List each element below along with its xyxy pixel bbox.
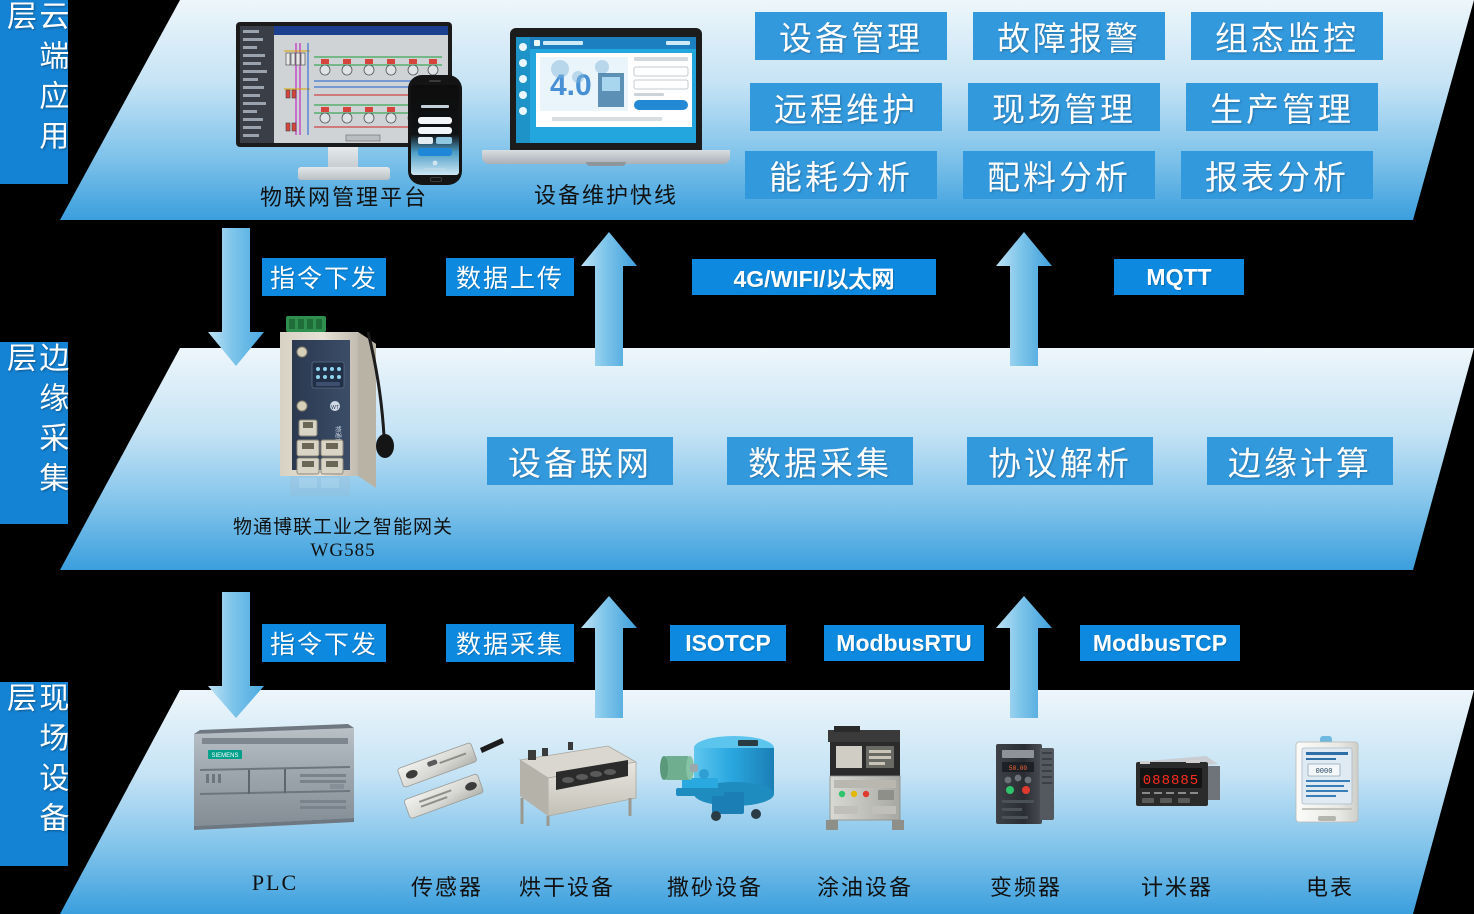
field-device-plc: SIEMENS xyxy=(188,722,360,832)
architecture-diagram: 云端应用层 边缘采集层 现场设备层 xyxy=(0,0,1474,914)
caption-meter-counter: 计米器 xyxy=(1097,870,1257,902)
arrow-mqtt-up-top xyxy=(993,232,1055,366)
phone-earpiece xyxy=(429,80,441,82)
layer-tab-edge[interactable]: 边缘采集层 xyxy=(0,342,68,524)
tag-command-dispatch-top[interactable]: 指令下发 xyxy=(262,258,386,296)
tag-modbusrtu[interactable]: ModbusRTU xyxy=(824,625,984,661)
edge-tile-label: 数据采集 xyxy=(748,437,892,485)
tag-label: ModbusTCP xyxy=(1093,630,1227,657)
arrow-modbustcp-up xyxy=(993,596,1055,718)
arrow-command-down-bottom xyxy=(205,592,267,720)
edge-tile-protocol-parsing[interactable]: 协议解析 xyxy=(967,437,1153,485)
laptop-front-notch xyxy=(586,162,626,166)
tag-label: 数据采集 xyxy=(456,625,564,661)
edge-gateway-device: WT 物通博联 xyxy=(272,310,412,510)
field-device-inverter: 50.00 xyxy=(992,740,1060,826)
laptop-lid: 4.0 xyxy=(510,28,702,150)
caption-maintenance-express: 设备维护快线 xyxy=(456,178,756,210)
tag-mqtt[interactable]: MQTT xyxy=(1114,259,1244,295)
mobile-app-phone xyxy=(408,75,462,185)
caption-gateway-line1: 物通博联工业之智能网关 xyxy=(178,512,508,539)
tag-label: 指令下发 xyxy=(270,259,378,295)
scada-titlebar xyxy=(274,26,448,35)
field-device-drying-equipment xyxy=(512,736,640,828)
app-tile-fault-alarm[interactable]: 故障报警 xyxy=(973,12,1165,60)
caption-sand-spreading: 撒砂设备 xyxy=(635,870,795,902)
tag-command-dispatch-bottom[interactable]: 指令下发 xyxy=(262,624,386,662)
arrow-data-upload-top xyxy=(578,232,640,366)
caption-plc: PLC xyxy=(195,870,355,896)
monitor-stand xyxy=(298,167,390,180)
monitor-neck xyxy=(328,147,358,169)
field-device-sand-spreading xyxy=(660,726,780,830)
tag-label: ModbusRTU xyxy=(836,630,971,657)
tag-isotcp[interactable]: ISOTCP xyxy=(670,625,786,661)
app-tile-site-management[interactable]: 现场管理 xyxy=(968,83,1160,131)
maintenance-express-laptop: 4.0 xyxy=(482,28,730,168)
tag-label: 指令下发 xyxy=(270,625,378,661)
laptop-display: 4.0 xyxy=(516,37,696,143)
caption-inverter: 变频器 xyxy=(946,870,1106,902)
app-tile-label: 组态监控 xyxy=(1215,12,1359,60)
edge-tile-label: 设备联网 xyxy=(508,437,652,485)
svg-text:WT: WT xyxy=(331,405,339,411)
app-tile-label: 报表分析 xyxy=(1205,151,1349,199)
field-device-oiling-equipment xyxy=(820,726,916,830)
field-device-meter-counter: 088885 xyxy=(1130,754,1224,814)
caption-iot-platform: 物联网管理平台 xyxy=(194,180,494,212)
app-tile-scada-monitoring[interactable]: 组态监控 xyxy=(1191,12,1383,60)
tag-data-upload-top[interactable]: 数据上传 xyxy=(446,258,574,296)
app-tile-label: 设备管理 xyxy=(779,12,923,60)
edge-tile-data-acquisition[interactable]: 数据采集 xyxy=(727,437,913,485)
tag-label: 数据上传 xyxy=(456,259,564,295)
tag-network-4g-wifi-eth[interactable]: 4G/WIFI/以太网 xyxy=(692,259,936,295)
edge-tile-edge-computing[interactable]: 边缘计算 xyxy=(1207,437,1393,485)
scada-sidebar xyxy=(240,26,274,143)
caption-drying: 烘干设备 xyxy=(487,870,647,902)
edge-tile-device-networking[interactable]: 设备联网 xyxy=(487,437,673,485)
tag-label: ISOTCP xyxy=(685,630,771,657)
caption-oiling: 涂油设备 xyxy=(785,870,945,902)
layer-tab-field[interactable]: 现场设备层 xyxy=(0,682,68,866)
tag-label: 4G/WIFI/以太网 xyxy=(734,260,895,294)
layer-tab-cloud[interactable]: 云端应用层 xyxy=(0,0,68,184)
field-device-electricity-meter: 0000 xyxy=(1292,736,1362,830)
app-tile-label: 故障报警 xyxy=(997,12,1141,60)
app-tile-label: 远程维护 xyxy=(774,83,918,131)
app-tile-production-management[interactable]: 生产管理 xyxy=(1186,83,1378,131)
svg-text:50.00: 50.00 xyxy=(1009,765,1027,772)
layer-tab-field-label: 现场设备层 xyxy=(2,682,67,866)
field-device-sensor xyxy=(388,732,506,828)
phone-screen xyxy=(411,85,459,175)
caption-gateway-line2: WG585 xyxy=(178,540,508,562)
layer-tab-edge-label: 边缘采集层 xyxy=(2,342,67,524)
app-tile-label: 现场管理 xyxy=(992,83,1136,131)
edge-tile-label: 协议解析 xyxy=(988,437,1132,485)
app-tile-remote-maintenance[interactable]: 远程维护 xyxy=(750,83,942,131)
tag-label: MQTT xyxy=(1146,264,1211,291)
phone-body xyxy=(408,75,462,185)
app-tile-label: 生产管理 xyxy=(1210,83,1354,131)
svg-text:0000: 0000 xyxy=(1316,768,1333,776)
caption-electricity-meter: 电表 xyxy=(1250,870,1410,902)
tag-data-collection[interactable]: 数据采集 xyxy=(446,624,574,662)
edge-tile-label: 边缘计算 xyxy=(1228,437,1372,485)
arrow-data-collection-up xyxy=(578,596,640,718)
app-tile-label: 能耗分析 xyxy=(769,151,913,199)
app-tile-material-analysis[interactable]: 配料分析 xyxy=(963,151,1155,199)
arrow-command-down-top xyxy=(205,228,267,368)
app-tile-energy-analysis[interactable]: 能耗分析 xyxy=(745,151,937,199)
layer-tab-cloud-label: 云端应用层 xyxy=(2,0,67,184)
tag-modbustcp[interactable]: ModbusTCP xyxy=(1080,625,1240,661)
app-tile-label: 配料分析 xyxy=(987,151,1131,199)
app-tile-device-management[interactable]: 设备管理 xyxy=(755,12,947,60)
plc-brand-text: SIEMENS xyxy=(211,753,238,759)
counter-value-text: 088885 xyxy=(1143,773,1199,789)
app-tile-report-analysis[interactable]: 报表分析 xyxy=(1181,151,1373,199)
